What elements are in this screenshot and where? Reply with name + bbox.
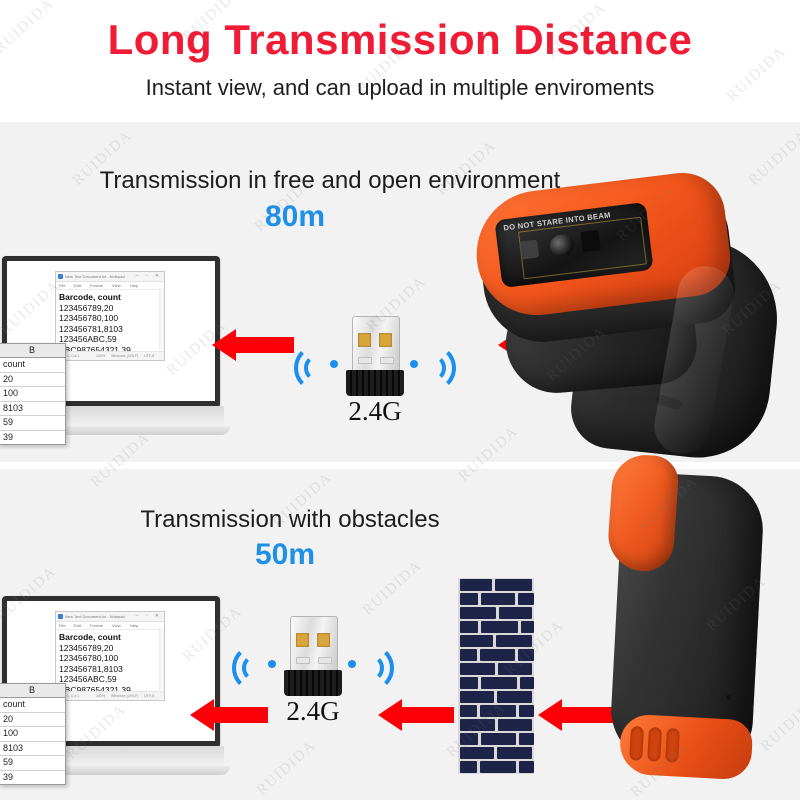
wifi-dot-right-icon <box>348 660 356 668</box>
notepad-titlebar: New Text Document.txt - Notepad ‒ ▫ ✕ <box>56 612 164 622</box>
window-controls[interactable]: ‒ ▫ ✕ <box>135 273 162 280</box>
usb-notch <box>380 357 394 364</box>
spreadsheet-cell[interactable]: 8103 <box>0 742 65 757</box>
usb-contact <box>358 333 371 347</box>
wifi-dot-right-icon <box>410 360 418 368</box>
notepad-window-title: New Text Document.txt - Notepad <box>65 273 125 280</box>
usb-notch <box>358 357 372 364</box>
usb-connector <box>352 316 400 374</box>
spreadsheet-bottom[interactable]: B count 20 100 8103 59 39 <box>0 683 66 785</box>
spreadsheet-cell[interactable]: 59 <box>0 756 65 771</box>
menu-view[interactable]: View <box>112 282 121 289</box>
barcode-line: Barcode, count <box>59 632 164 643</box>
barcode-line: 123456789,20 <box>59 643 164 654</box>
usb-dongle-bottom: 2.4G <box>238 612 388 722</box>
notepad-statusbar: Ln 1, Col 1 100% Windows (CRLF) UTF-8 <box>56 691 164 700</box>
notepad-menubar[interactable]: File Edit Format View Help <box>56 622 164 630</box>
notepad-titlebar: New Text Document.txt - Notepad ‒ ▫ ✕ <box>56 272 164 282</box>
spreadsheet-cell[interactable]: 100 <box>0 727 65 742</box>
barcode-scanner-product: DO NOT STARE INTO BEAM <box>470 175 800 795</box>
notepad-text-area[interactable]: Barcode, count 123456789,20 123456780,10… <box>56 630 164 695</box>
barcode-line: Barcode, count <box>59 292 164 303</box>
spreadsheet-cell[interactable]: count <box>0 698 65 713</box>
spreadsheet-cell[interactable]: 59 <box>0 416 65 431</box>
usb-contact <box>317 633 330 647</box>
menu-file[interactable]: File <box>59 622 65 629</box>
menu-help[interactable]: Help <box>130 622 138 629</box>
barcode-line: 123456789,20 <box>59 303 164 314</box>
dongle-label: 2.4G <box>300 396 450 426</box>
notepad-window-title: New Text Document.txt - Notepad <box>65 613 125 620</box>
spreadsheet-cell[interactable]: 100 <box>0 387 65 402</box>
wifi-wave-right-icon <box>408 344 456 392</box>
notepad-scrollbar[interactable] <box>159 288 164 350</box>
spreadsheet-column-header: B <box>0 344 65 358</box>
dongle-label: 2.4G <box>238 696 388 726</box>
wifi-dot-left-icon <box>330 360 338 368</box>
usb-housing <box>284 670 342 696</box>
usb-connector <box>290 616 338 674</box>
barcode-line: 123456781,8103 <box>59 324 164 335</box>
usb-housing <box>346 370 404 396</box>
window-controls[interactable]: ‒ ▫ ✕ <box>135 613 162 620</box>
page-subtitle: Instant view, and can upload in multiple… <box>0 74 800 102</box>
spreadsheet-cell[interactable]: 39 <box>0 771 65 785</box>
infographic-canvas: Long Transmission Distance Instant view,… <box>0 0 800 800</box>
notepad-statusbar: Ln 1, Col 1 100% Windows (CRLF) UTF-8 <box>56 351 164 360</box>
notepad-window[interactable]: New Text Document.txt - Notepad ‒ ▫ ✕ Fi… <box>55 271 165 361</box>
spreadsheet-cell[interactable]: count <box>0 358 65 373</box>
barcode-line: 123456780,100 <box>59 313 164 324</box>
led-emitter <box>580 230 600 252</box>
cap-notch <box>629 726 644 761</box>
barcode-line: 123456ABC,59 <box>59 674 164 685</box>
spreadsheet-top[interactable]: B count 20 100 8103 59 39 <box>0 343 66 445</box>
status-zoom: 100% <box>96 352 105 360</box>
status-eol: Windows (CRLF) <box>111 352 138 360</box>
arrow-dongle-to-laptop-top <box>212 328 294 362</box>
notepad-text-area[interactable]: Barcode, count 123456789,20 123456780,10… <box>56 290 164 355</box>
spreadsheet-cell[interactable]: 20 <box>0 713 65 728</box>
menu-format[interactable]: Format <box>90 282 103 289</box>
usb-contact <box>296 633 309 647</box>
spreadsheet-column-header: B <box>0 684 65 698</box>
header-band: Long Transmission Distance Instant view,… <box>0 0 800 122</box>
notepad-window[interactable]: New Text Document.txt - Notepad ‒ ▫ ✕ Fi… <box>55 611 165 701</box>
spreadsheet-cell[interactable]: 39 <box>0 431 65 445</box>
menu-edit[interactable]: Edit <box>74 622 81 629</box>
cap-notch <box>665 728 680 763</box>
notepad-app-icon <box>58 274 63 279</box>
scanner-base-cap <box>619 714 754 781</box>
status-zoom: 100% <box>96 692 105 700</box>
status-encoding: UTF-8 <box>144 692 154 700</box>
scanner-port <box>726 695 731 700</box>
page-title: Long Transmission Distance <box>0 16 800 64</box>
usb-dongle-top: 2.4G <box>300 312 450 422</box>
status-eol: Windows (CRLF) <box>111 692 138 700</box>
wifi-dot-left-icon <box>268 660 276 668</box>
lens-housing <box>519 239 539 259</box>
notepad-scrollbar[interactable] <box>159 628 164 690</box>
barcode-line: 123456780,100 <box>59 653 164 664</box>
notepad-app-icon <box>58 614 63 619</box>
wifi-wave-right-icon <box>346 644 394 692</box>
arrow-wall-to-dongle <box>378 698 454 732</box>
wifi-wave-left-icon <box>232 644 280 692</box>
wifi-wave-left-icon <box>294 344 342 392</box>
menu-help[interactable]: Help <box>130 282 138 289</box>
cap-notch <box>647 727 662 762</box>
usb-contact <box>379 333 392 347</box>
spreadsheet-cell[interactable]: 20 <box>0 373 65 388</box>
usb-notch <box>296 657 310 664</box>
watermark: RUIDIDA <box>254 737 320 799</box>
barcode-line: 123456ABC,59 <box>59 334 164 345</box>
menu-format[interactable]: Format <box>90 622 103 629</box>
barcode-line: 123456781,8103 <box>59 664 164 675</box>
status-encoding: UTF-8 <box>144 352 154 360</box>
menu-file[interactable]: File <box>59 282 65 289</box>
menu-view[interactable]: View <box>112 622 121 629</box>
menu-edit[interactable]: Edit <box>74 282 81 289</box>
notepad-menubar[interactable]: File Edit Format View Help <box>56 282 164 290</box>
usb-notch <box>318 657 332 664</box>
spreadsheet-cell[interactable]: 8103 <box>0 402 65 417</box>
scanner-trigger-button[interactable] <box>606 453 680 573</box>
